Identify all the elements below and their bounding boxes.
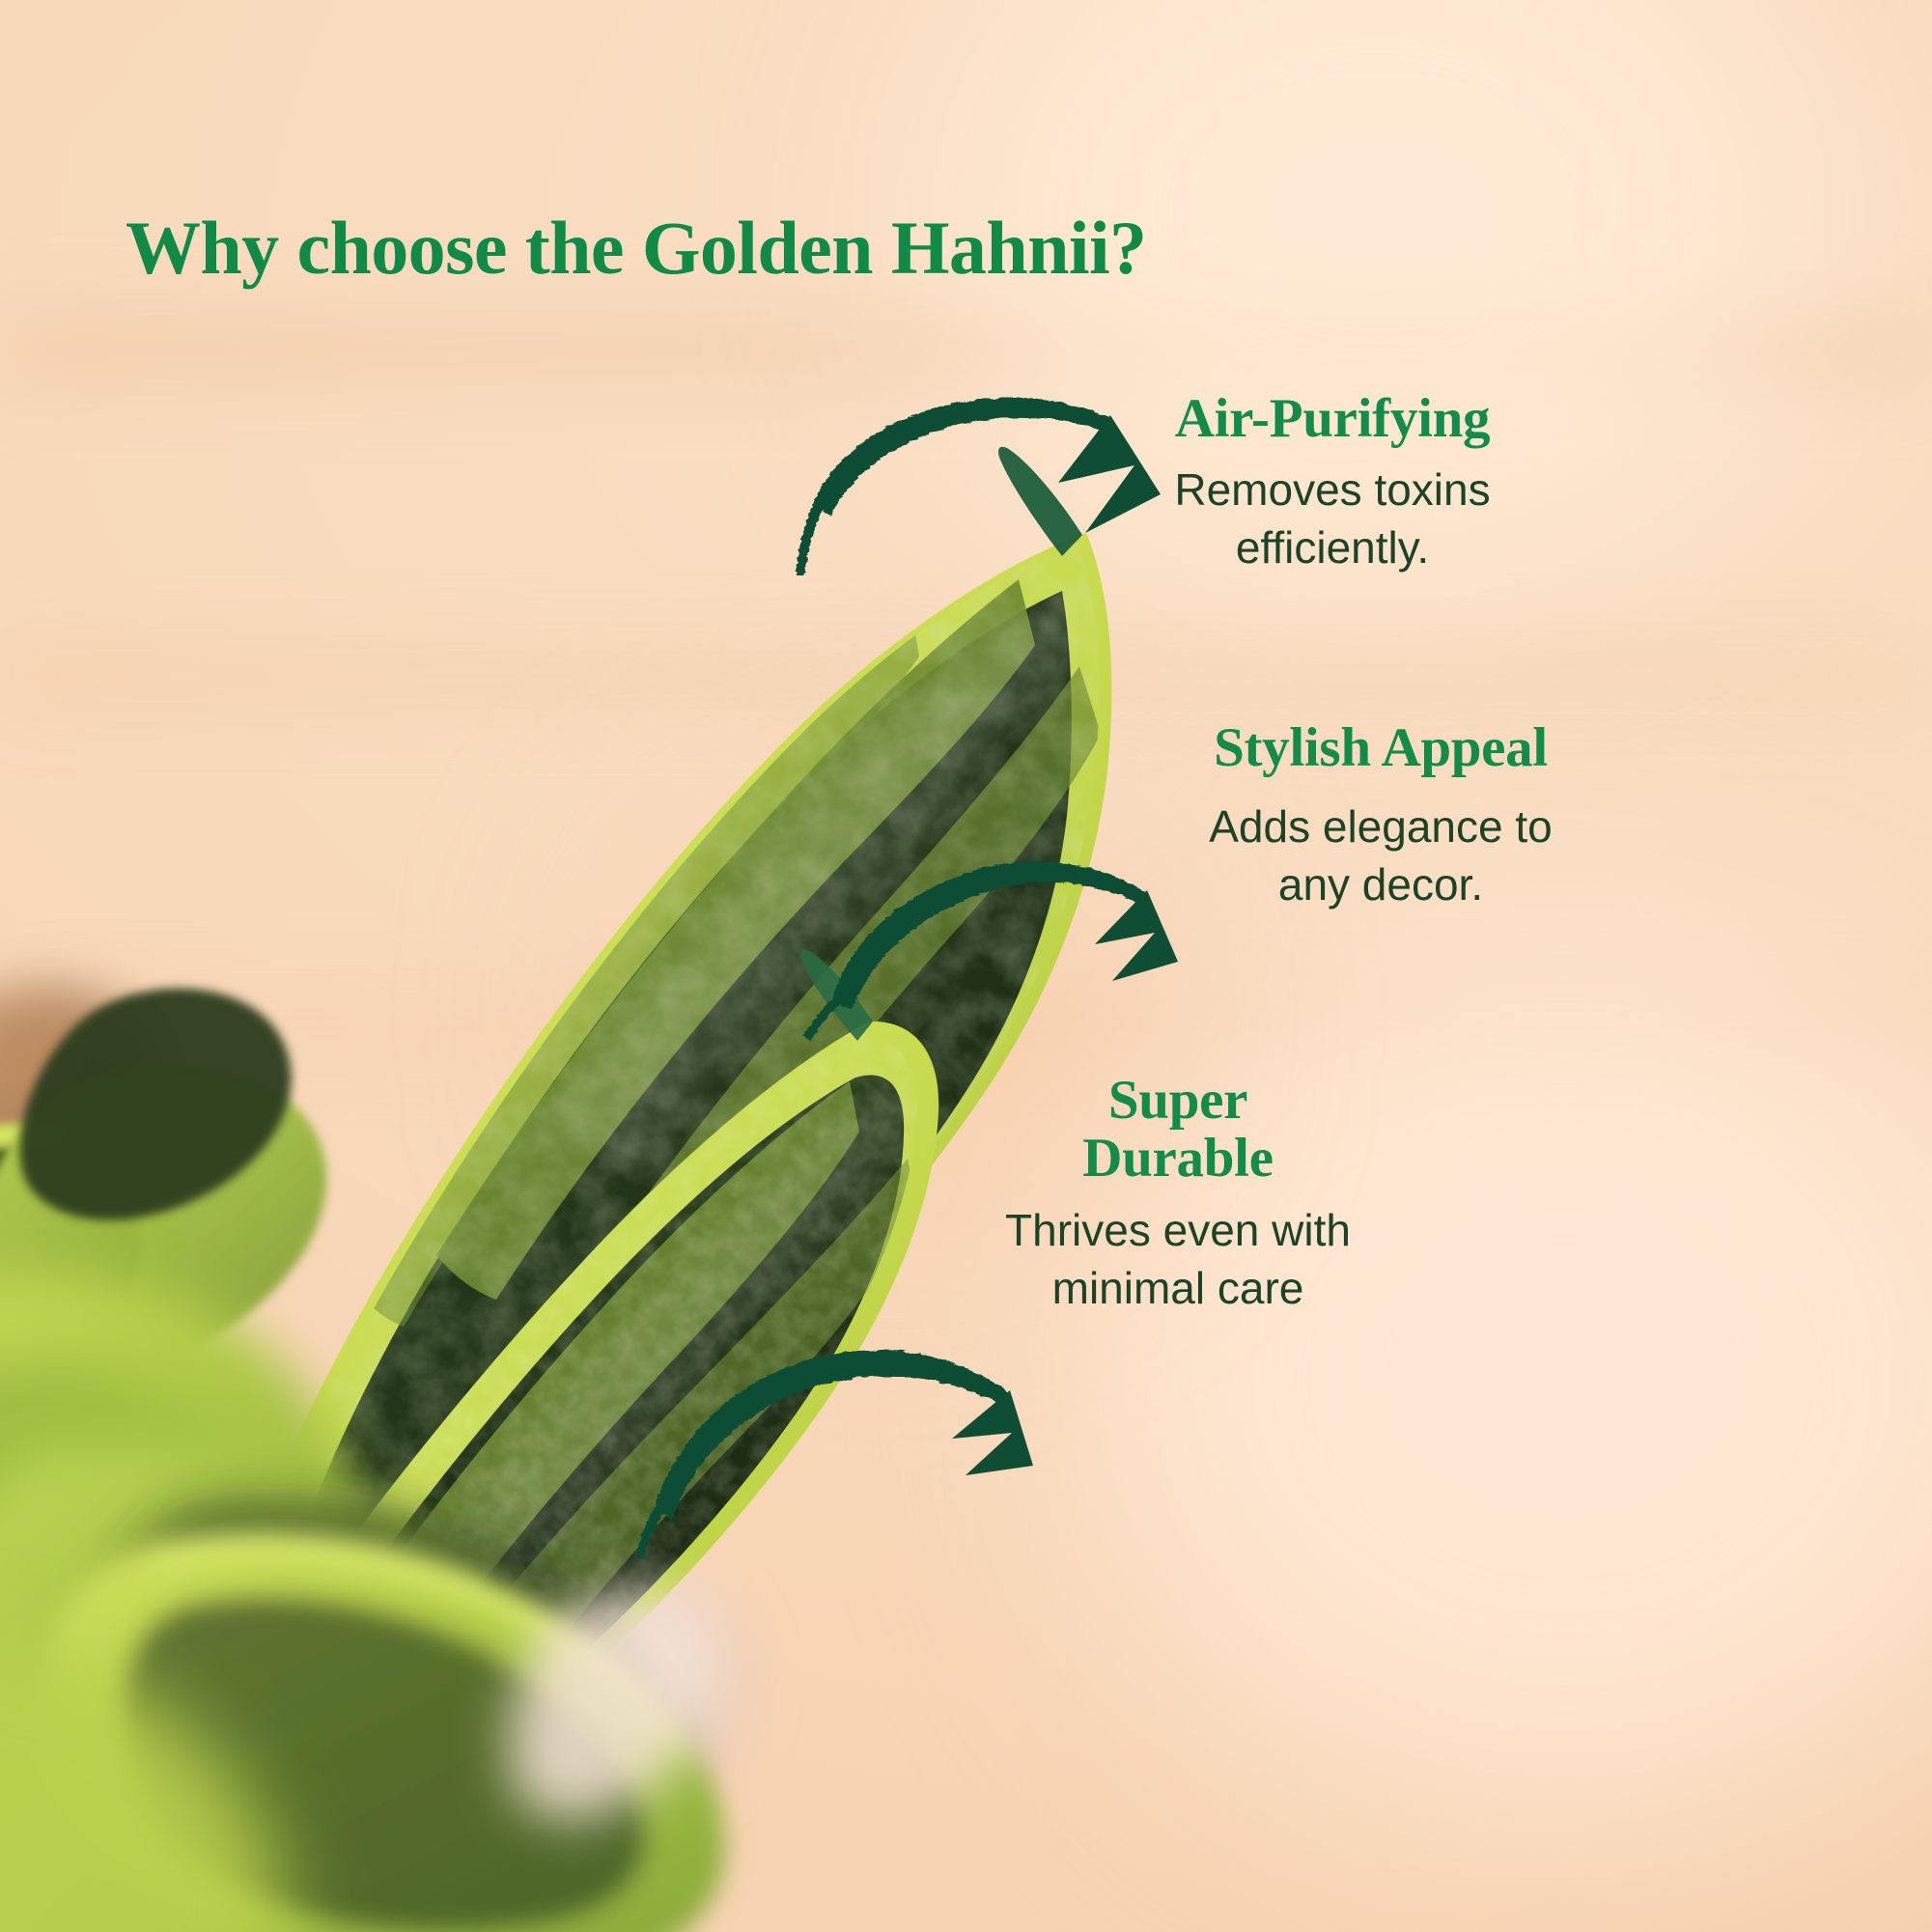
callout-heading: Stylish Appeal [1139, 719, 1622, 777]
page-title: Why choose the Golden Hahnii? [126, 205, 1146, 292]
callout-air-purifying: Air-Purifying Removes toxins efficiently… [1101, 390, 1564, 577]
callout-body: Thrives even with minimal care [975, 1202, 1381, 1318]
curved-arrow-to-super-durable [635, 1350, 1033, 1558]
callout-super-durable: Super Durable Thrives even with minimal … [975, 1072, 1381, 1317]
callout-body: Adds elegance to any decor. [1139, 798, 1622, 914]
callout-body: Removes toxins efficiently. [1101, 462, 1564, 577]
callout-stylish-appeal: Stylish Appeal Adds elegance to any deco… [1139, 719, 1622, 914]
arrowhead [952, 1390, 1033, 1475]
callout-heading: Air-Purifying [1101, 390, 1564, 448]
callout-heading: Super Durable [975, 1072, 1381, 1189]
curved-arrow-to-stylish-appeal [803, 861, 1178, 1041]
promotional-graphic: Why choose the Golden Hahnii? Air-Purify… [0, 0, 1932, 1932]
